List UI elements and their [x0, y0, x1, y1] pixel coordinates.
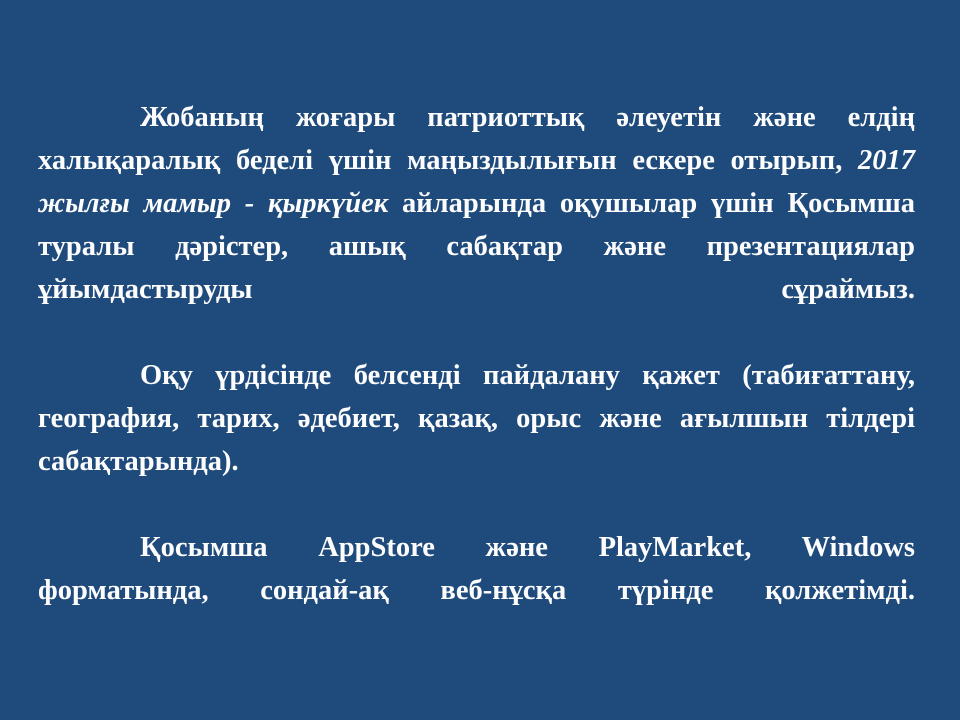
paragraph-1: Жобаның жоғары патриоттық әлеуетін және … — [38, 96, 915, 354]
paragraph-2-run-1: Оқу үрдісінде белсенді пайдалану қажет (… — [38, 360, 915, 477]
paragraph-1-run-1: Жобаның жоғары патриоттық әлеуетін және … — [38, 102, 915, 176]
presentation-slide: Жобаның жоғары патриоттық әлеуетін және … — [0, 0, 960, 720]
paragraph-3-run-1: Қосымша AppStore және PlayMarket, Window… — [38, 532, 915, 606]
slide-body-text: Жобаның жоғары патриоттық әлеуетін және … — [38, 96, 915, 655]
paragraph-2: Оқу үрдісінде белсенді пайдалану қажет (… — [38, 354, 915, 526]
paragraph-3: Қосымша AppStore және PlayMarket, Window… — [38, 526, 915, 655]
